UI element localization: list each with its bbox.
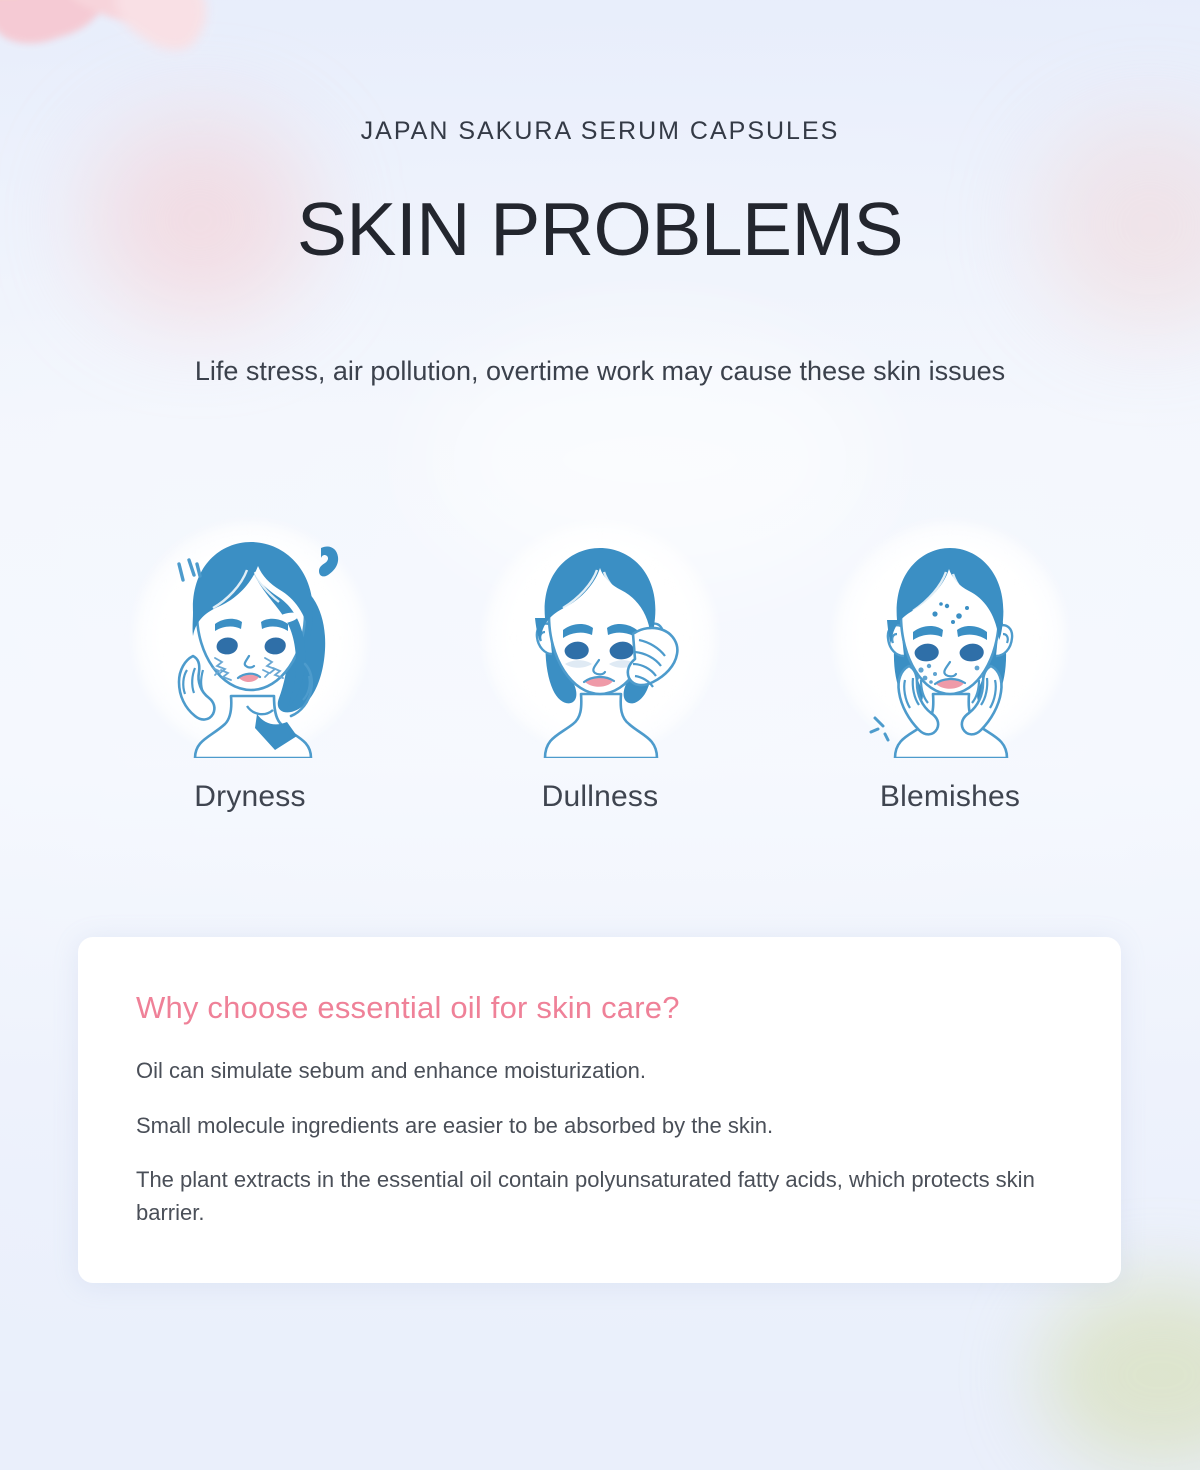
card-body: Oil can simulate sebum and enhance moist… — [136, 1055, 1066, 1229]
woman-dull-skin-icon — [485, 518, 715, 758]
problem-item-blemishes: Blemishes — [800, 512, 1100, 814]
sparkle-mark — [871, 718, 888, 740]
problem-label: Dryness — [194, 780, 305, 814]
sakura-flower-decoration — [0, 0, 232, 136]
woman-blemished-skin-icon — [835, 518, 1065, 758]
sakura-stamens — [0, 0, 18, 22]
woman-dry-skin-icon — [135, 518, 365, 758]
card-line: Oil can simulate sebum and enhance moist… — [136, 1055, 1066, 1088]
dryness-illustration-frame — [125, 512, 375, 764]
product-eyebrow: JAPAN SAKURA SERUM CAPSULES — [0, 117, 1200, 146]
dullness-illustration-frame — [475, 512, 725, 764]
problem-label: Blemishes — [880, 780, 1020, 814]
card-line: Small molecule ingredients are easier to… — [136, 1110, 1066, 1143]
page-subtitle: Life stress, air pollution, overtime wor… — [0, 352, 1200, 390]
stress-mark — [179, 560, 200, 580]
decorative-curl — [319, 546, 338, 576]
sakura-petal — [104, 0, 224, 63]
problem-item-dullness: Dullness — [450, 512, 750, 814]
skin-problems-list: Dryness — [100, 512, 1100, 814]
problem-item-dryness: Dryness — [100, 512, 400, 814]
page-title: SKIN PROBLEMS — [0, 192, 1200, 267]
blemishes-illustration-frame — [825, 512, 1075, 764]
card-title: Why choose essential oil for skin care? — [136, 990, 680, 1026]
why-essential-oil-card: Why choose essential oil for skin care? … — [78, 937, 1121, 1283]
problem-label: Dullness — [542, 780, 659, 814]
card-line: The plant extracts in the essential oil … — [136, 1164, 1066, 1229]
